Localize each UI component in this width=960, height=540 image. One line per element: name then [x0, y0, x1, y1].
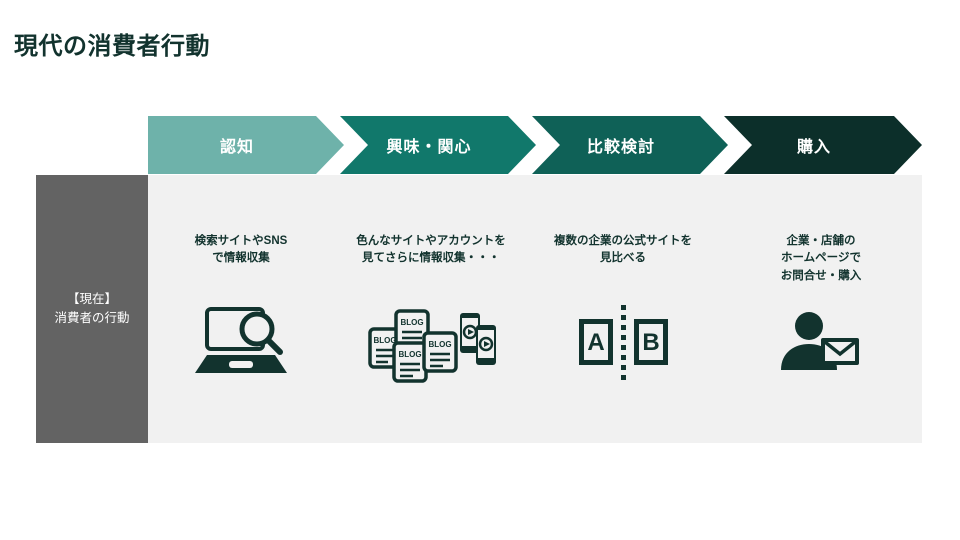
svg-text:BLOG: BLOG — [400, 318, 423, 327]
stage-cell-3: 複数の企業の公式サイトを 見比べる A — [530, 175, 716, 443]
stage-arrow-4-label: 購入 — [797, 133, 831, 157]
stage-cell-4: 企業・店舗の ホームページで お問合せ・購入 — [728, 175, 914, 443]
stage-arrow-2[interactable]: 興味・関心 — [340, 116, 536, 174]
stage-arrow-2-label: 興味・関心 — [386, 133, 471, 157]
stage-arrow-1[interactable]: 認知 — [148, 116, 344, 174]
ab-compare-icon: A B — [530, 297, 716, 389]
stage-arrow-band: 認知 興味・関心 比較検討 購入 — [0, 116, 960, 176]
row-label-text: 【現在】 消費者の行動 — [54, 290, 129, 329]
stage-cell-3-caption: 複数の企業の公式サイトを 見比べる — [530, 233, 716, 268]
stage-cell-1-caption: 検索サイトやSNS で情報収集 — [148, 233, 334, 268]
stage-arrow-1-label: 認知 — [220, 133, 254, 157]
page-title: 現代の消費者行動 — [14, 26, 210, 61]
stage-cell-2-caption: 色んなサイトやアカウントを 見てさらに情報収集・・・ — [338, 233, 524, 268]
stage-arrow-4[interactable]: 購入 — [724, 116, 922, 174]
option-b-letter: B — [642, 329, 659, 356]
laptop-search-icon — [148, 297, 334, 389]
blog-cards-and-phones-icon: BLOG BLOG BLOG — [338, 297, 524, 389]
stage-cell-1: 検索サイトやSNS で情報収集 — [148, 175, 334, 443]
svg-text:BLOG: BLOG — [373, 336, 396, 345]
svg-text:BLOG: BLOG — [398, 350, 421, 359]
row-label-block: 【現在】 消費者の行動 — [36, 175, 148, 443]
option-a-letter: A — [587, 329, 604, 356]
stage-arrow-3[interactable]: 比較検討 — [532, 116, 728, 174]
content-panel: 検索サイトやSNS で情報収集 色んなサイトやアカウントを 見てさらに情報収集・… — [148, 175, 922, 443]
stage-cell-2: 色んなサイトやアカウントを 見てさらに情報収集・・・ BLOG BLOG — [338, 175, 524, 443]
svg-text:BLOG: BLOG — [428, 340, 451, 349]
stage-cell-4-caption: 企業・店舗の ホームページで お問合せ・購入 — [728, 233, 914, 285]
stage-arrow-3-label: 比較検討 — [587, 133, 655, 157]
person-mail-icon — [728, 297, 914, 389]
